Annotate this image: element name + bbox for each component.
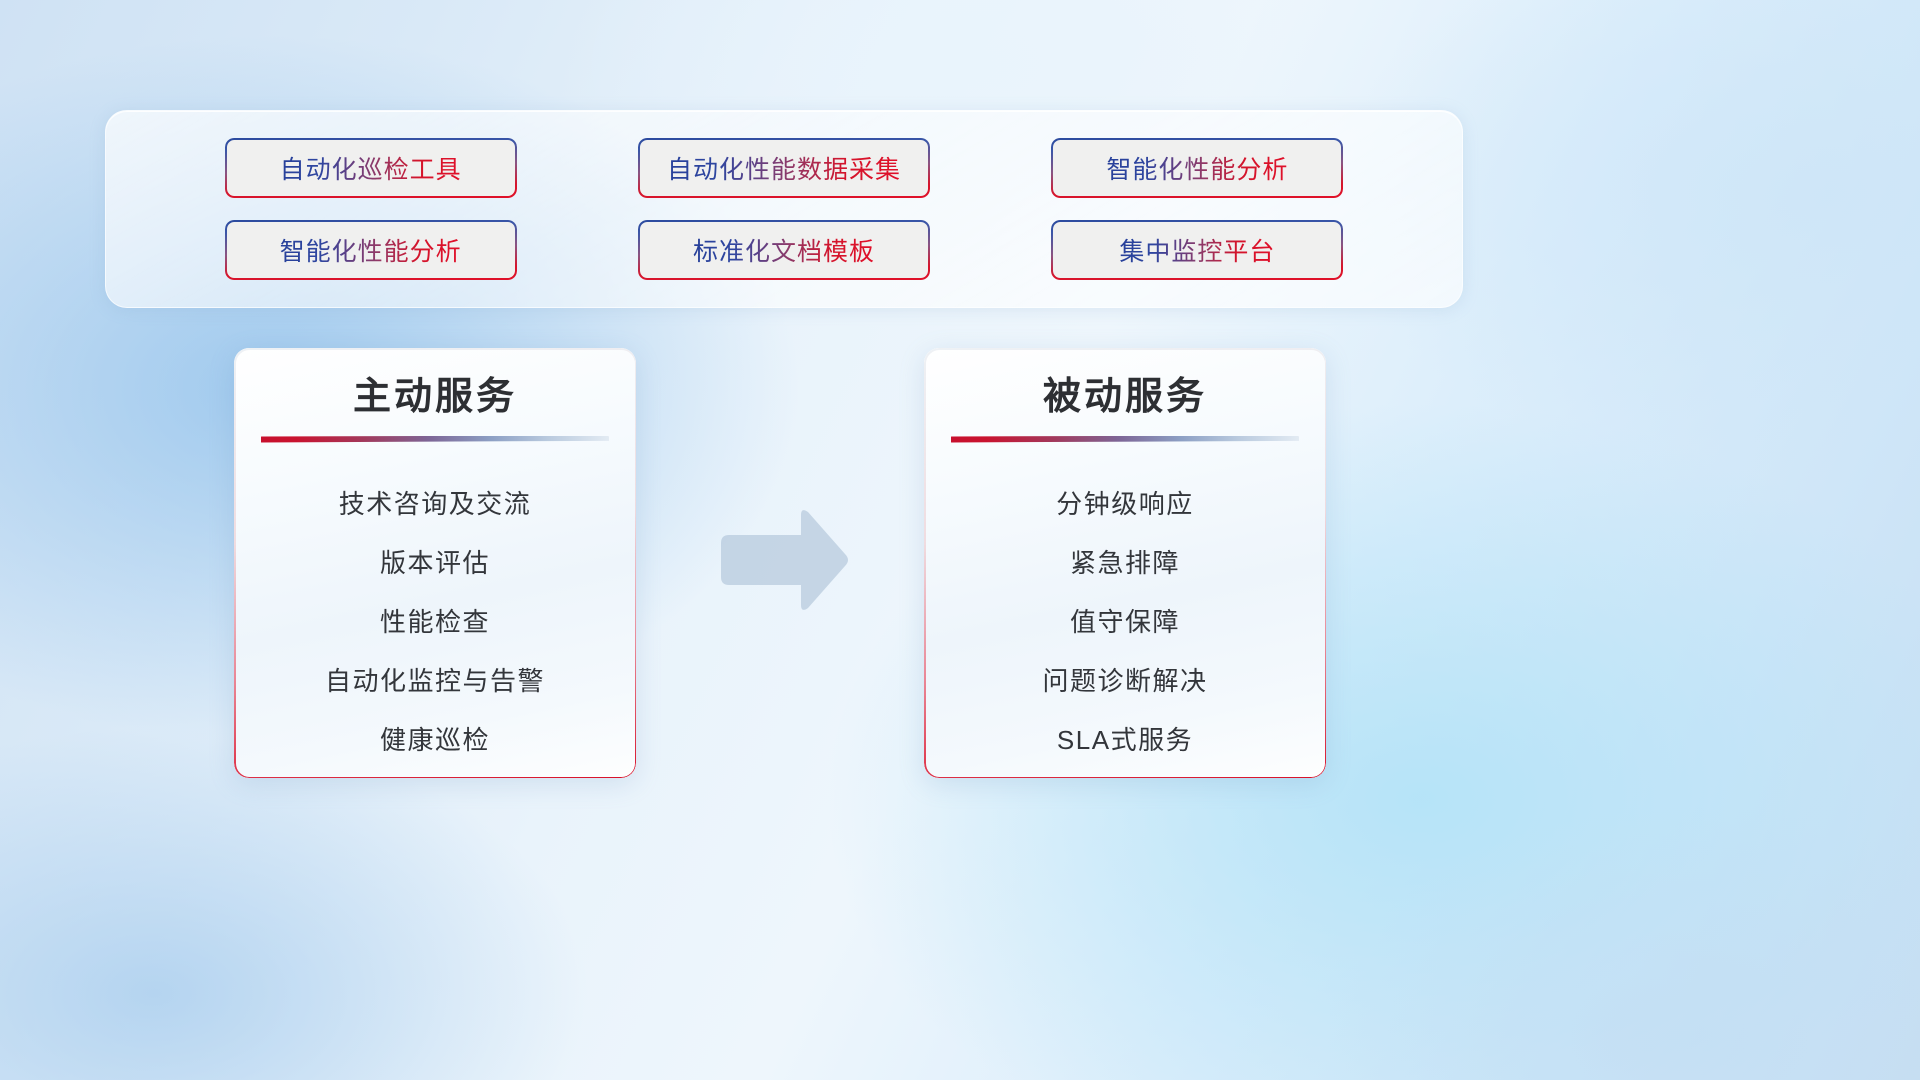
card-title: 被动服务	[946, 374, 1304, 422]
card-title: 主动服务	[256, 374, 614, 422]
service-card-reactive: 被动服务 分钟级响应 紧急排障 值守保障 问题诊断解决 SLA式服务	[924, 348, 1326, 778]
capability-pill-1[interactable]: 自动化巡检工具	[225, 138, 517, 198]
capability-pill-6[interactable]: 集中监控平台	[1051, 220, 1343, 280]
list-item: 健康巡检	[256, 711, 614, 770]
list-item: 分钟级响应	[946, 475, 1304, 534]
capability-pill-label: 自动化巡检工具	[280, 150, 462, 186]
list-item: 版本评估	[256, 534, 614, 593]
capability-pill-label: 标准化文档模板	[693, 232, 875, 268]
capability-pill-4[interactable]: 智能化性能分析	[225, 220, 517, 280]
list-item: 值守保障	[946, 593, 1304, 652]
capability-pill-2[interactable]: 自动化性能数据采集	[638, 138, 930, 198]
service-card-proactive: 主动服务 技术咨询及交流 版本评估 性能检查 自动化监控与告警 健康巡检	[234, 348, 636, 778]
service-card-body: 被动服务 分钟级响应 紧急排障 值守保障 问题诊断解决 SLA式服务	[924, 348, 1326, 778]
title-divider	[951, 436, 1299, 443]
list-item: 紧急排障	[946, 534, 1304, 593]
arrow-right-icon	[715, 505, 851, 615]
list-item: 性能检查	[256, 593, 614, 652]
title-divider	[261, 436, 609, 443]
capability-pill-label: 智能化性能分析	[1106, 150, 1288, 186]
service-item-list: 技术咨询及交流 版本评估 性能检查 自动化监控与告警 健康巡检	[256, 475, 614, 770]
capability-panel: 自动化巡检工具 自动化性能数据采集 智能化性能分析 智能化性能分析 标准化文档模…	[105, 110, 1463, 308]
capability-pill-5[interactable]: 标准化文档模板	[638, 220, 930, 280]
capability-pill-label: 集中监控平台	[1119, 232, 1275, 268]
capability-grid: 自动化巡检工具 自动化性能数据采集 智能化性能分析 智能化性能分析 标准化文档模…	[106, 111, 1462, 307]
list-item: 自动化监控与告警	[256, 652, 614, 711]
capability-pill-3[interactable]: 智能化性能分析	[1051, 138, 1343, 198]
list-item: 问题诊断解决	[946, 652, 1304, 711]
service-card-body: 主动服务 技术咨询及交流 版本评估 性能检查 自动化监控与告警 健康巡检	[234, 348, 636, 778]
service-item-list: 分钟级响应 紧急排障 值守保障 问题诊断解决 SLA式服务	[946, 475, 1304, 770]
capability-pill-label: 自动化性能数据采集	[667, 150, 901, 186]
list-item: SLA式服务	[946, 711, 1304, 770]
capability-pill-label: 智能化性能分析	[280, 232, 462, 268]
list-item: 技术咨询及交流	[256, 475, 614, 534]
